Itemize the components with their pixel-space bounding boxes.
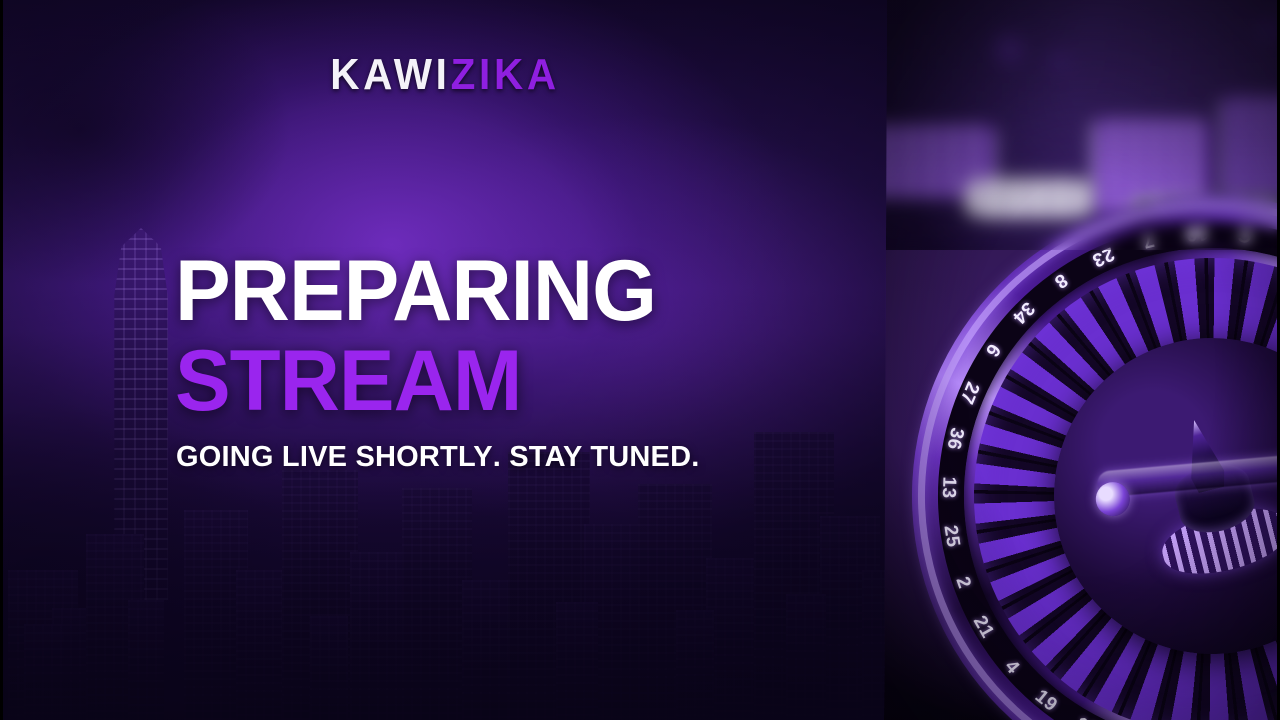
subtitle-part-2: SHORTLY xyxy=(355,441,492,473)
bokeh-light-icon xyxy=(1050,52,1068,70)
cityscape-panel: KAWIZIKA PREPARING STREAM GOING LIVE SHO… xyxy=(0,0,890,720)
headline-block: PREPARING STREAM xyxy=(175,252,875,422)
subtitle-part-5: . xyxy=(691,441,699,473)
wheel-number: 13 xyxy=(937,476,960,499)
stream-starting-overlay: 710C524163312014319221829171130260321519… xyxy=(0,0,1280,720)
wheel-number: 10 xyxy=(1185,221,1208,244)
roulette-photo-panel: 710C524163312014319221829171130260321519… xyxy=(860,0,1280,720)
logo-text-accent: ZIKA xyxy=(451,50,560,99)
headline-line-1: PREPARING xyxy=(175,252,854,332)
subtitle-part-1: GOING LIVE xyxy=(176,441,355,473)
subtitle-part-3: . STAY xyxy=(493,441,591,473)
subtitle-part-4: TUNED xyxy=(590,441,691,473)
casino-chip-stack xyxy=(966,178,1092,218)
headline-line-2: STREAM xyxy=(175,342,854,422)
logo-text-primary: KAWI xyxy=(330,50,450,99)
brand-logo: KAWIZIKA xyxy=(36,52,855,98)
letterbox-edge-left xyxy=(0,0,3,720)
bokeh-light-icon xyxy=(996,36,1022,62)
subtitle-line: GOING LIVE SHORTLY. STAY TUNED. xyxy=(176,441,699,473)
wheel-number: 25 xyxy=(939,523,964,548)
